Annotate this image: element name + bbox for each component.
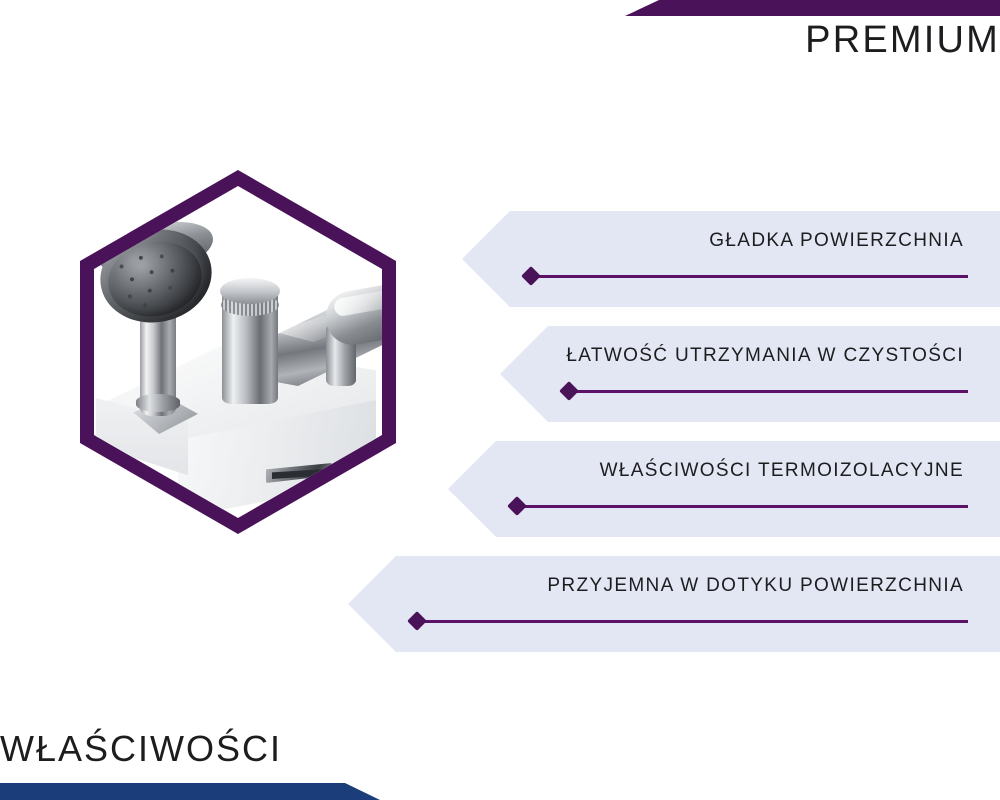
feature-banner: WŁAŚCIWOŚCI TERMOIZOLACYJNE <box>448 441 1000 537</box>
top-ribbon <box>0 0 1000 16</box>
bottom-ribbon-shape <box>0 783 380 800</box>
diverter-knob-cap <box>220 278 280 304</box>
footer-title: WŁAŚCIWOŚCI <box>0 728 282 770</box>
feature-banner-shape <box>462 211 1000 307</box>
feature-label: PRZYJEMNA W DOTYKU POWIERZCHNIA <box>547 574 964 598</box>
feature-banner-shape <box>348 556 1000 652</box>
handshower-collar <box>136 394 180 412</box>
feature-underline <box>530 275 968 278</box>
page-title: PREMIUM <box>400 17 1000 63</box>
top-ribbon-shape <box>625 0 1000 16</box>
feature-underline <box>416 620 968 623</box>
feature-banner: ŁATWOŚĆ UTRZYMANIA W CZYSTOŚCI <box>500 326 1000 422</box>
product-hexagon <box>80 170 396 534</box>
feature-label: ŁATWOŚĆ UTRZYMANIA W CZYSTOŚCI <box>566 344 964 368</box>
feature-label: WŁAŚCIWOŚCI TERMOIZOLACYJNE <box>600 459 964 483</box>
feature-banner-shape <box>448 441 1000 537</box>
feature-banner-shape <box>500 326 1000 422</box>
feature-banner: GŁADKA POWIERZCHNIA <box>462 211 1000 307</box>
feature-label: GŁADKA POWIERZCHNIA <box>709 229 964 253</box>
feature-underline <box>568 390 968 393</box>
feature-banner: PRZYJEMNA W DOTYKU POWIERZCHNIA <box>348 556 1000 652</box>
feature-underline <box>516 505 968 508</box>
